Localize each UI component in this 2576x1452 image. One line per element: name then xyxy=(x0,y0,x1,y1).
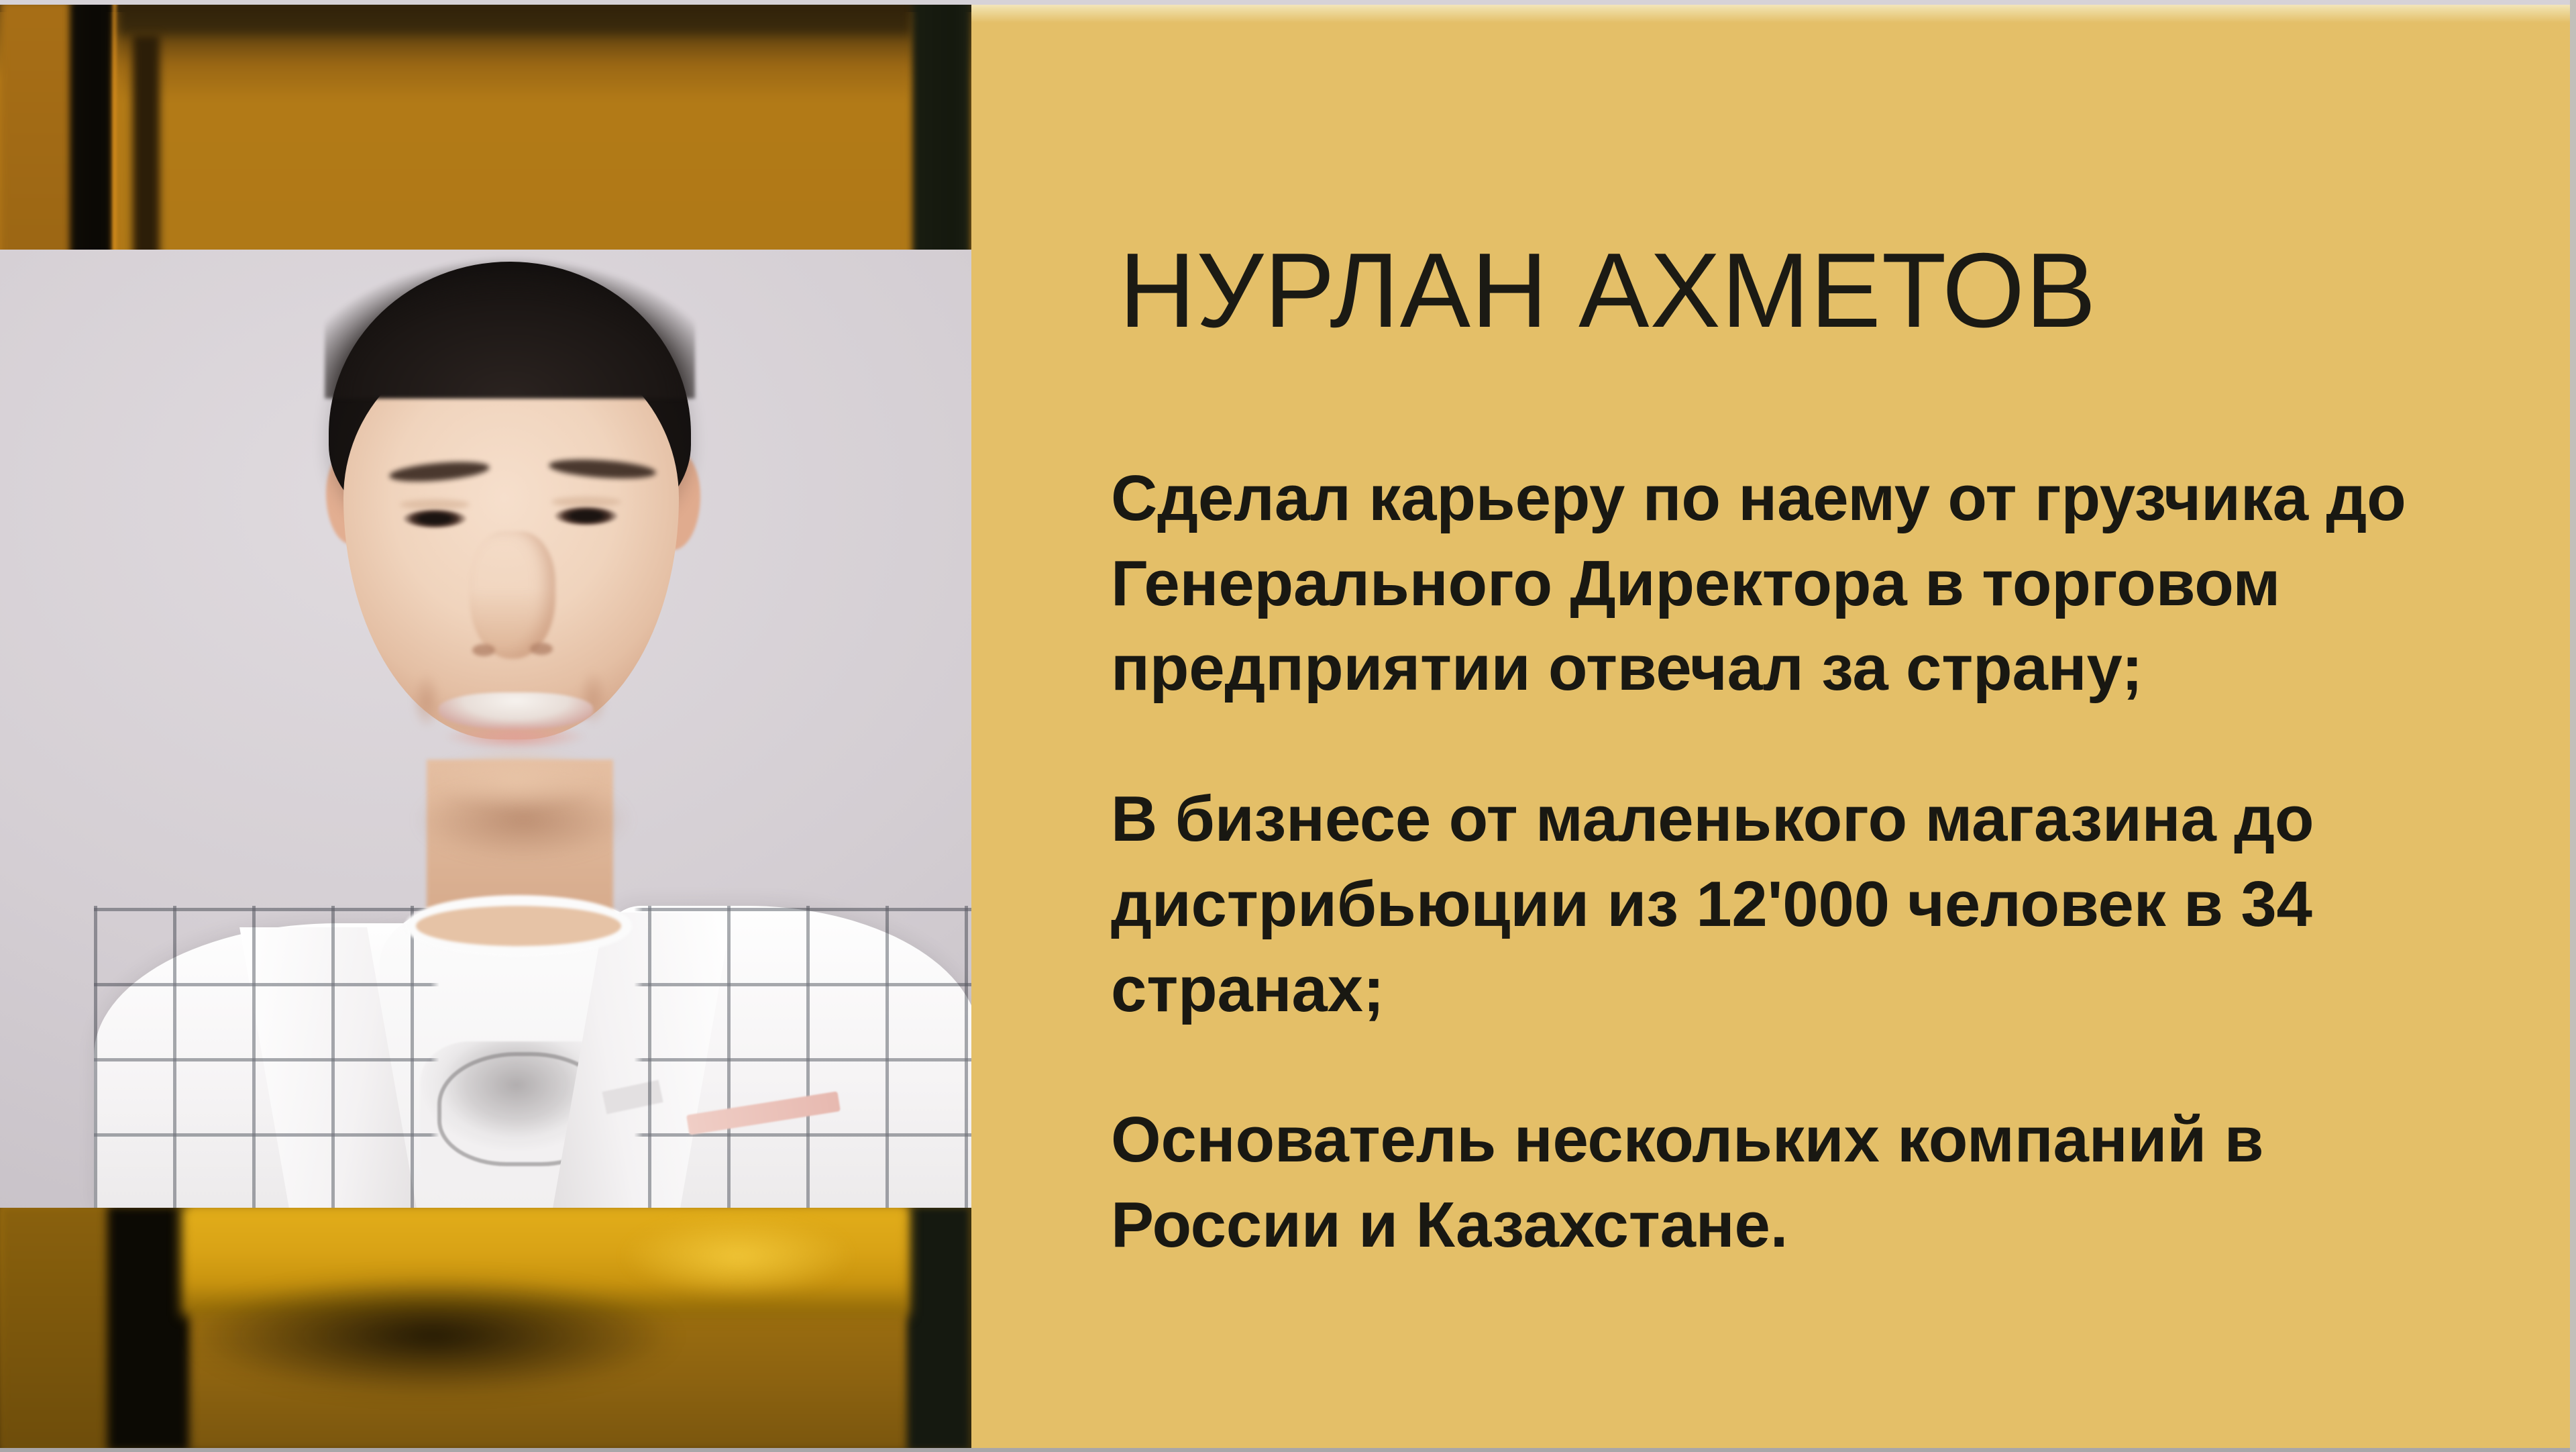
portrait-nostril-right xyxy=(530,643,553,655)
speaker-portrait xyxy=(0,250,971,1208)
portrait-smile-line-left xyxy=(412,672,441,729)
speaker-photo-panel xyxy=(0,0,971,1452)
speaker-name-title: НУРЛАН АХМЕТОВ xyxy=(1119,235,2097,347)
portrait-nostril-left xyxy=(472,644,495,656)
portrait-eye-left xyxy=(402,509,467,529)
portrait-tshirt-collar xyxy=(405,895,632,957)
bio-bullet-career: Сделал карьеру по наему от грузчика до Г… xyxy=(1111,456,2439,711)
bio-bullet-business: В бизнесе от маленького магазина до дист… xyxy=(1111,777,2439,1032)
portrait-lower-lip xyxy=(444,723,586,750)
photo-backdrop-cushion-shadow xyxy=(188,1275,678,1396)
photo-backdrop-wood-right-jamb xyxy=(907,1205,971,1452)
portrait-eye-right xyxy=(554,506,619,526)
bio-text-panel: НУРЛАН АХМЕТОВ Сделал карьеру по наему о… xyxy=(971,0,2576,1452)
photo-backdrop-wood-dark-stile xyxy=(107,1205,189,1452)
photo-backdrop-wood-left xyxy=(0,1205,118,1452)
portrait-nose xyxy=(470,531,555,659)
panel-top-highlight xyxy=(971,0,2576,23)
bio-bullet-list: Сделал карьеру по наему от грузчика до Г… xyxy=(1111,456,2439,1268)
portrait-chin xyxy=(433,747,600,809)
presentation-slide: НУРЛАН АХМЕТОВ Сделал карьеру по наему о… xyxy=(0,0,2576,1452)
bio-bullet-founder: Основатель нескольких компаний в России … xyxy=(1111,1098,2439,1267)
portrait-hairline xyxy=(325,258,695,399)
